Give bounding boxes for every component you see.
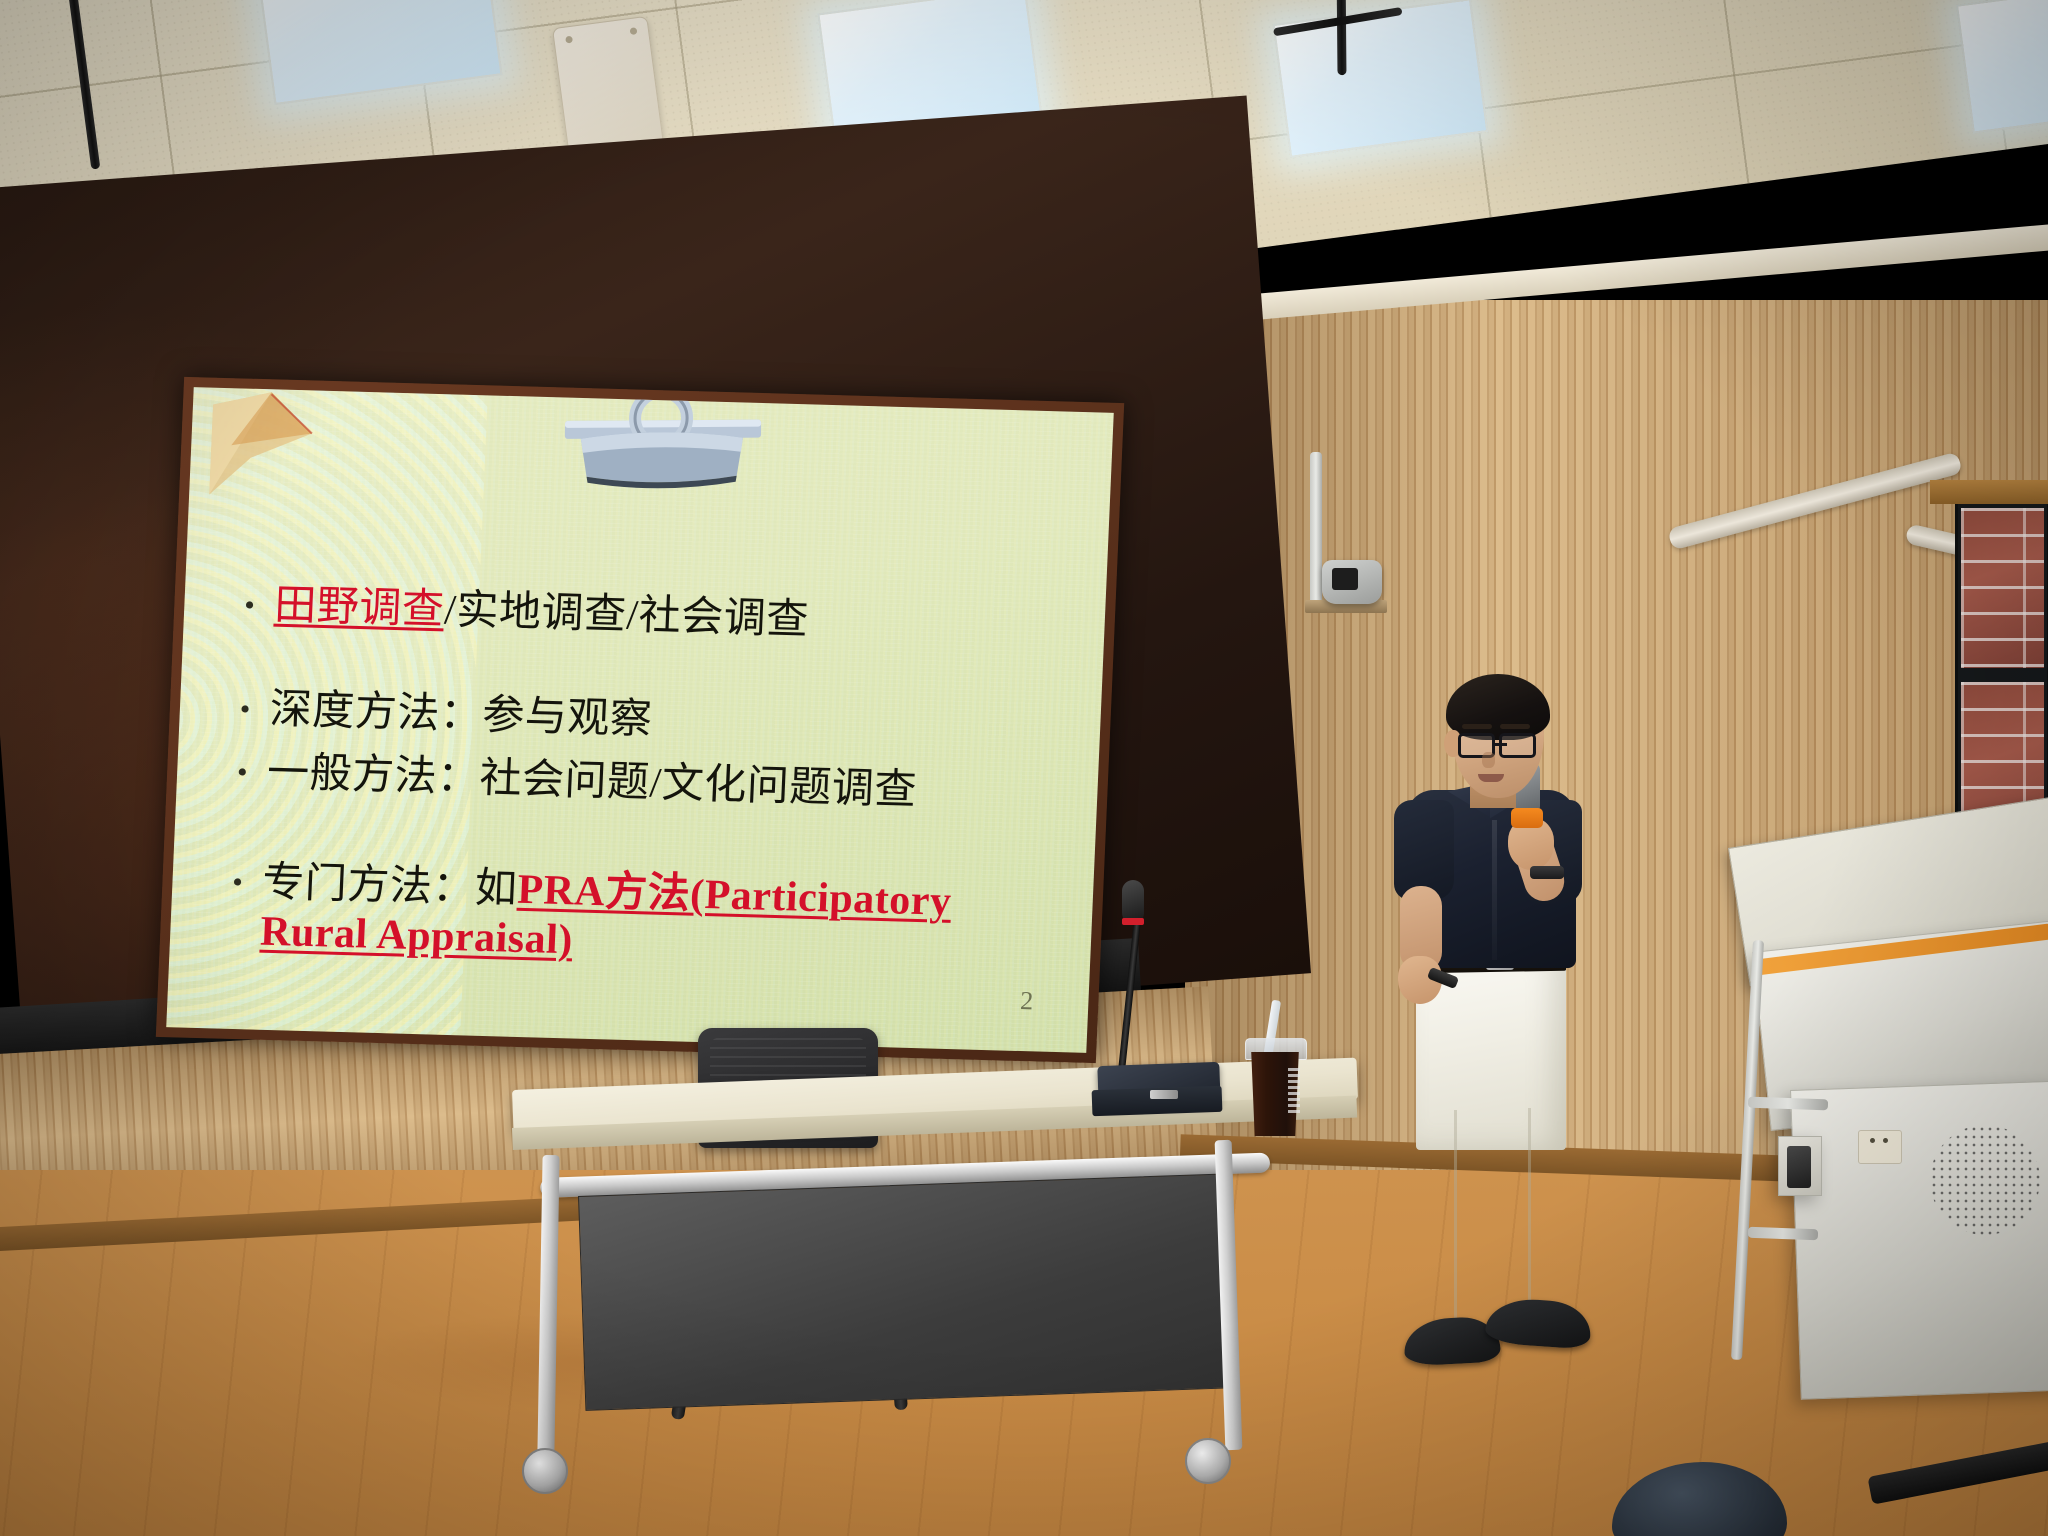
mic-indicator-ring: [1122, 918, 1144, 925]
slide-bullet-item: • 一般方法：社会问题/文化问题调查: [236, 748, 1062, 821]
microphone-orange-band: [1511, 808, 1543, 828]
podium-control-switch[interactable]: [1787, 1146, 1811, 1188]
presenter-eyebrow-left: [1462, 724, 1492, 729]
window-pane-upper: [1961, 508, 2044, 668]
ceiling-hanger-rod: [1336, 0, 1346, 75]
projection-screen-frame: • 田野调查/实地调查/社会调查 • 深度方法：参与观察 • 一般方法：社会问题…: [156, 377, 1124, 1063]
bullet-segment-plain: /实地调查/社会调查: [443, 587, 809, 643]
presenter: [1390, 700, 1670, 1400]
mic-status-led: [1150, 1090, 1178, 1099]
camera-mount-arm: [1310, 452, 1322, 612]
brick-wall-outside: [1961, 508, 2044, 668]
presenter-sleeve-left: [1394, 800, 1454, 900]
slide-bullet-list: • 田野调查/实地调查/社会调查 • 深度方法：参与观察 • 一般方法：社会问题…: [229, 581, 1069, 980]
trouser-crease: [1528, 1108, 1531, 1308]
lecture-hall-photo: • 田野调查/实地调查/社会调查 • 深度方法：参与观察 • 一般方法：社会问题…: [0, 0, 2048, 1536]
wristwatch: [1530, 866, 1564, 879]
slide-bullet-item: • 深度方法：参与观察: [239, 684, 1065, 757]
glasses-bridge: [1495, 743, 1507, 746]
presenter-nose: [1482, 752, 1495, 768]
bullet-dot-icon: •: [236, 748, 260, 789]
binder-clip-icon: [536, 390, 787, 500]
bullet-dot-icon: •: [244, 581, 268, 622]
bullet-segment-plain: 专门方法：如: [261, 859, 518, 912]
wall-speaker-grille: [1930, 1125, 2040, 1235]
ptz-camera: [1322, 560, 1382, 604]
bullet-segment-highlight: 田野调查: [273, 583, 445, 634]
table-modesty-panel: [578, 1173, 1235, 1411]
camera-lens-icon: [1332, 568, 1358, 590]
bullet-text: 深度方法：参与观察: [269, 685, 654, 745]
led-light-panel: [1956, 0, 2048, 134]
page-curl-icon: [209, 390, 331, 497]
table-caster-wheel: [1185, 1438, 1231, 1484]
wall-outlet: [1858, 1130, 1902, 1164]
bullet-text: 一般方法：社会问题/文化问题调查: [266, 749, 918, 817]
presenter-mouth: [1478, 774, 1504, 782]
presentation-slide: • 田野调查/实地调查/社会调查 • 深度方法：参与观察 • 一般方法：社会问题…: [166, 387, 1114, 1053]
presenter-eyebrow-right: [1500, 724, 1530, 729]
podium-lower-cabinet: [1790, 1081, 2048, 1400]
window-sill: [1930, 480, 2048, 504]
bullet-dot-icon: •: [239, 684, 263, 725]
slide-page-number: 2: [1020, 986, 1034, 1016]
trouser-crease: [1454, 1110, 1457, 1320]
cup-label: [1288, 1068, 1300, 1116]
shirt-placket: [1492, 820, 1497, 960]
bullet-dot-icon: •: [232, 857, 256, 898]
table-caster-wheel: [522, 1448, 568, 1494]
